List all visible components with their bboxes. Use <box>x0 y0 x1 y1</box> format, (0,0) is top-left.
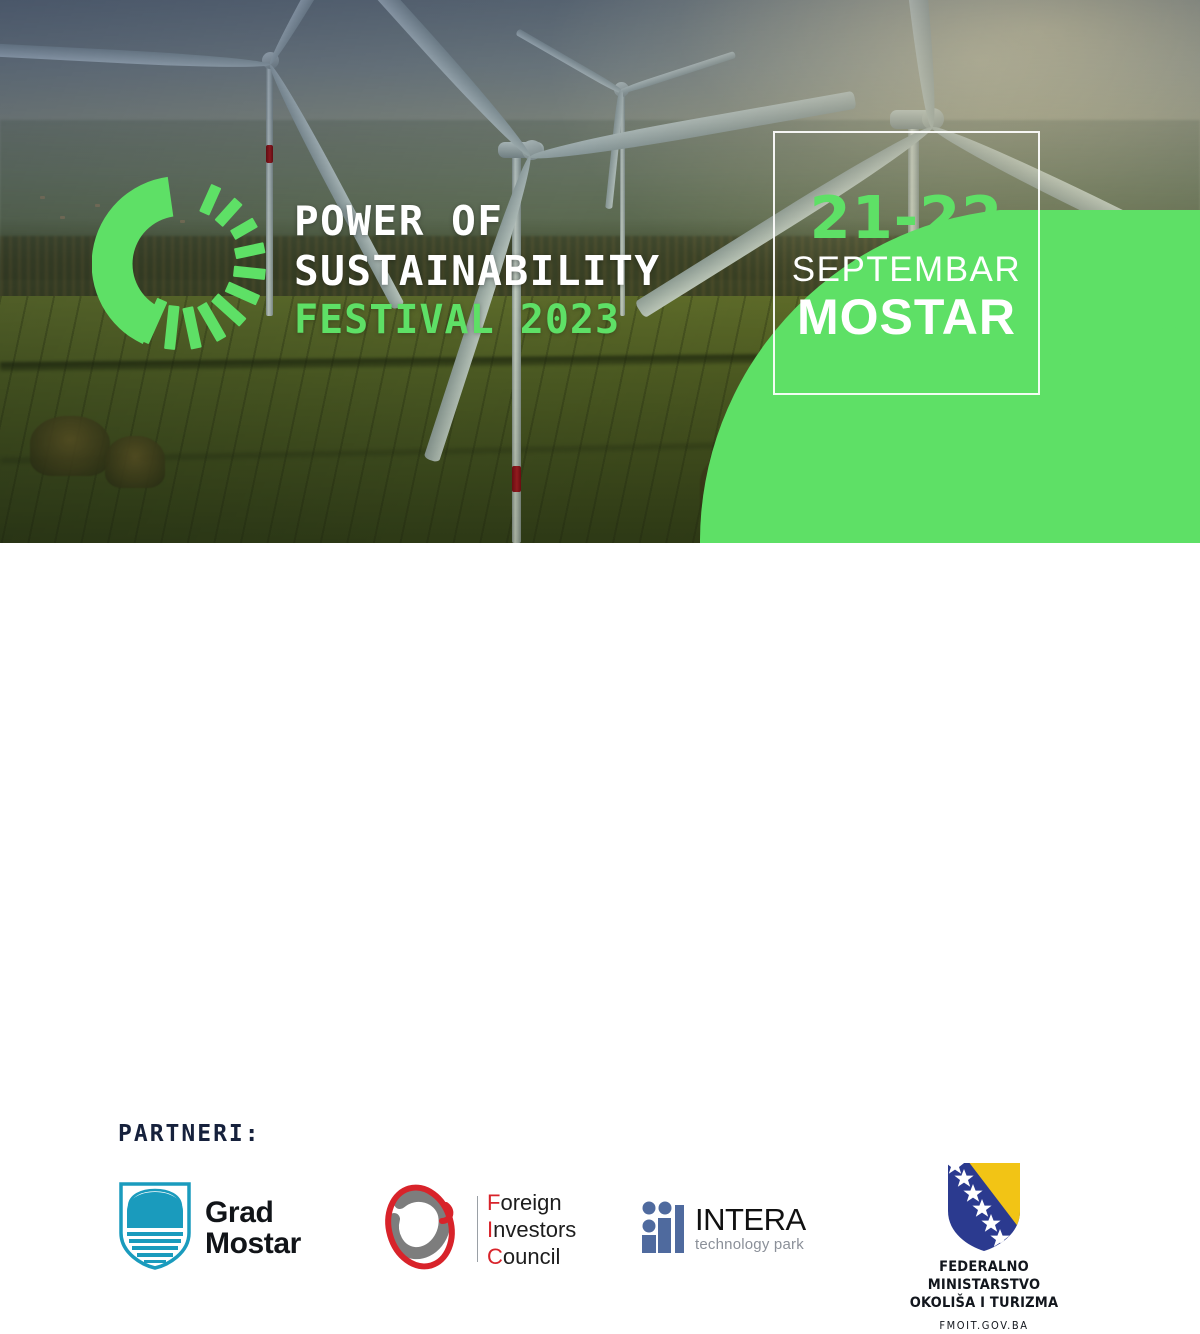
intera-wordmark: INTERA technology park <box>695 1205 806 1253</box>
page-title: POWER OFSUSTAINABILITY <box>294 196 661 296</box>
fic-initial-f: F <box>487 1190 500 1215</box>
mostar-shield-icon <box>118 1181 192 1276</box>
hero-banner: POWER OFSUSTAINABILITY FESTIVAL 2023 21-… <box>0 0 1200 543</box>
ministry-line-2: OKOLIŠA I TURIZMA <box>884 1294 1084 1312</box>
event-month: SEPTEMBAR <box>773 251 1040 289</box>
grad-mostar-line-2: Mostar <box>205 1227 301 1260</box>
partner-logo-intera[interactable]: INTERA technology park <box>642 1198 832 1260</box>
intera-tagline: technology park <box>695 1236 806 1253</box>
event-city: MOSTAR <box>773 289 1040 345</box>
event-dates: 21-22 <box>773 188 1040 247</box>
fic-word-foreign: oreign <box>500 1190 561 1215</box>
ministry-line-1: FEDERALNO MINISTARSTVO <box>884 1258 1084 1294</box>
partner-logo-foreign-investors-council[interactable]: Foreign Investors Council <box>380 1183 590 1275</box>
event-poster: POWER OFSUSTAINABILITY FESTIVAL 2023 21-… <box>0 0 1200 800</box>
partners-footer: PARTNERI: Grad <box>0 543 1200 800</box>
fic-word-investors: nvestors <box>493 1217 576 1242</box>
festival-subtitle: FESTIVAL 2023 <box>294 298 620 342</box>
partner-logo-grad-mostar[interactable]: Grad Mostar <box>118 1183 318 1273</box>
intera-name: INTERA <box>695 1202 806 1237</box>
fic-initial-c: C <box>487 1244 503 1269</box>
fic-ring-icon <box>380 1181 468 1278</box>
intera-blocks-icon <box>642 1201 684 1258</box>
fic-divider <box>477 1196 478 1262</box>
ministry-website: FMOIT.GOV.BA <box>884 1318 1084 1334</box>
bih-coat-of-arms-icon <box>942 1240 1026 1257</box>
grad-mostar-line-1: Grad <box>205 1196 273 1229</box>
green-accent-dashes <box>1050 250 1200 450</box>
headline-line-1: POWER OF <box>294 197 503 245</box>
fic-wordmark: Foreign Investors Council <box>487 1189 576 1270</box>
headline-line-2: SUSTAINABILITY <box>294 246 661 296</box>
fic-word-council: ouncil <box>503 1244 560 1269</box>
partners-label: PARTNERI: <box>118 1121 261 1147</box>
partner-logo-federalno-ministarstvo[interactable]: FEDERALNO MINISTARSTVO OKOLIŠA I TURIZMA… <box>884 1161 1084 1311</box>
date-location-block: 21-22 SEPTEMBAR MOSTAR <box>773 131 1040 395</box>
sustainability-sunburst-mark <box>92 176 272 352</box>
grad-mostar-wordmark: Grad Mostar <box>205 1197 301 1259</box>
